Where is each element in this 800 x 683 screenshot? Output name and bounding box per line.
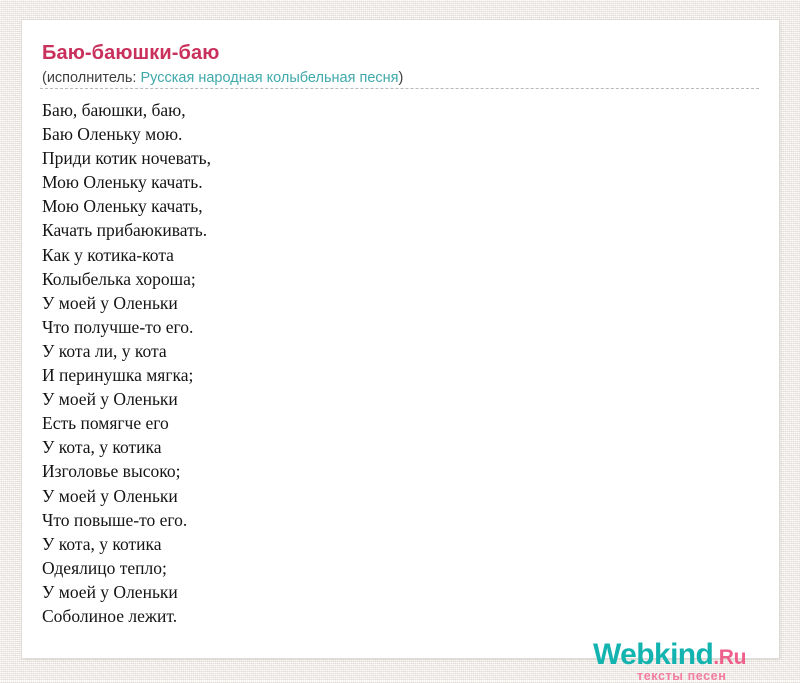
lyric-line: Приди котик ночевать,	[42, 146, 742, 170]
lyric-line: У моей у Оленьки	[42, 580, 742, 604]
site-logo[interactable]: Webkind.Ru тексты песен	[593, 640, 783, 680]
lyric-line: Мою Оленьку качать,	[42, 194, 742, 218]
lyric-line: Баю, баюшки, баю,	[42, 98, 742, 122]
lyric-line: И перинушка мягка;	[42, 363, 742, 387]
song-card: Баю-баюшки-баю (исполнитель: Русская нар…	[22, 20, 779, 658]
lyric-line: Что получше-то его.	[42, 315, 742, 339]
lyric-line: У моей у Оленьки	[42, 387, 742, 411]
lyric-line: Изголовье высоко;	[42, 459, 742, 483]
logo-word-primary: Webkind	[593, 638, 713, 671]
page-title: Баю-баюшки-баю	[42, 41, 219, 65]
lyric-line: Соболиное лежит.	[42, 604, 742, 628]
lyric-line: У кота, у котика	[42, 435, 742, 459]
performer-link[interactable]: Русская народная колыбельная песня	[140, 70, 398, 86]
lyric-line: Мою Оленьку качать.	[42, 170, 742, 194]
lyric-line: Баю Оленьку мою.	[42, 122, 742, 146]
lyric-line: У моей у Оленьки	[42, 484, 742, 508]
lyric-line: Есть помягче его	[42, 411, 742, 435]
performer-prefix-label: (исполнитель:	[42, 70, 140, 86]
header-divider	[40, 88, 759, 89]
song-card-inner: Баю-баюшки-баю (исполнитель: Русская нар…	[22, 20, 779, 658]
lyrics-text: Баю, баюшки, баю,Баю Оленьку мою.Приди к…	[42, 98, 742, 628]
lyric-line: Качать прибаюкивать.	[42, 218, 742, 242]
logo-word-tld: .Ru	[713, 646, 746, 669]
performer-line: (исполнитель: Русская народная колыбельн…	[42, 69, 403, 88]
lyric-line: Колыбелька хороша;	[42, 267, 742, 291]
lyric-line: Одеялицо тепло;	[42, 556, 742, 580]
lyric-line: У кота ли, у кота	[42, 339, 742, 363]
lyric-line: Что повыше-то его.	[42, 508, 742, 532]
lyric-line: У кота, у котика	[42, 532, 742, 556]
lyric-line: У моей у Оленьки	[42, 291, 742, 315]
lyric-line: Как у котика-кота	[42, 243, 742, 267]
performer-suffix-label: )	[399, 70, 404, 86]
